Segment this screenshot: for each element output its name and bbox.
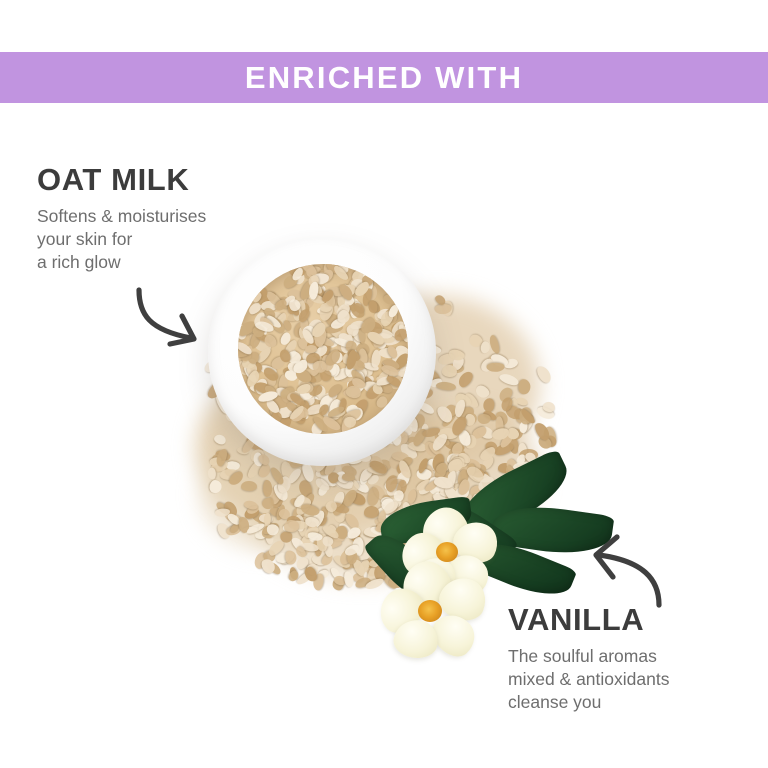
oat-flake bbox=[342, 472, 355, 480]
ingredient-block-oat-milk: OAT MILK Softens & moisturises your skin… bbox=[37, 163, 206, 274]
flower-center bbox=[418, 600, 442, 622]
infographic-canvas: ENRICHED WITH bbox=[0, 0, 768, 768]
ingredient-block-vanilla: VANILLA The soulful aromas mixed & antio… bbox=[508, 603, 669, 714]
flower-center bbox=[436, 542, 458, 562]
oat-flake bbox=[382, 294, 398, 305]
oat-flake bbox=[208, 467, 217, 479]
oat-milk-heading: OAT MILK bbox=[37, 163, 206, 197]
oat-flake bbox=[305, 344, 318, 353]
oat-bowl bbox=[208, 238, 436, 466]
oat-flake bbox=[241, 481, 257, 491]
vanilla-description-line: The soulful aromas bbox=[508, 645, 669, 668]
oat-flake bbox=[375, 395, 390, 411]
oat-flake bbox=[262, 480, 271, 497]
oat-flake bbox=[387, 303, 400, 318]
oat-flake bbox=[370, 349, 382, 368]
vanilla-description-line: mixed & antioxidants bbox=[508, 668, 669, 691]
oat-milk-description: Softens & moisturises your skin for a ri… bbox=[37, 205, 206, 274]
oat-bowl-contents bbox=[238, 264, 408, 434]
oat-milk-description-line: your skin for bbox=[37, 228, 206, 251]
oat-flake bbox=[363, 506, 378, 518]
vanilla-flower bbox=[378, 562, 494, 670]
curved-arrow-down-right-icon bbox=[125, 280, 215, 360]
enriched-with-banner: ENRICHED WITH bbox=[0, 52, 768, 103]
oat-flake bbox=[368, 301, 378, 313]
oat-flake bbox=[519, 379, 531, 394]
vanilla-description: The soulful aromas mixed & antioxidants … bbox=[508, 645, 669, 714]
oat-flake bbox=[344, 417, 356, 428]
banner-title: ENRICHED WITH bbox=[245, 62, 523, 93]
oat-flake bbox=[393, 490, 403, 502]
vanilla-description-line: cleanse you bbox=[508, 691, 669, 714]
oat-milk-description-line: a rich glow bbox=[37, 251, 206, 274]
curved-arrow-left-icon bbox=[585, 533, 675, 613]
oat-milk-description-line: Softens & moisturises bbox=[37, 205, 206, 228]
